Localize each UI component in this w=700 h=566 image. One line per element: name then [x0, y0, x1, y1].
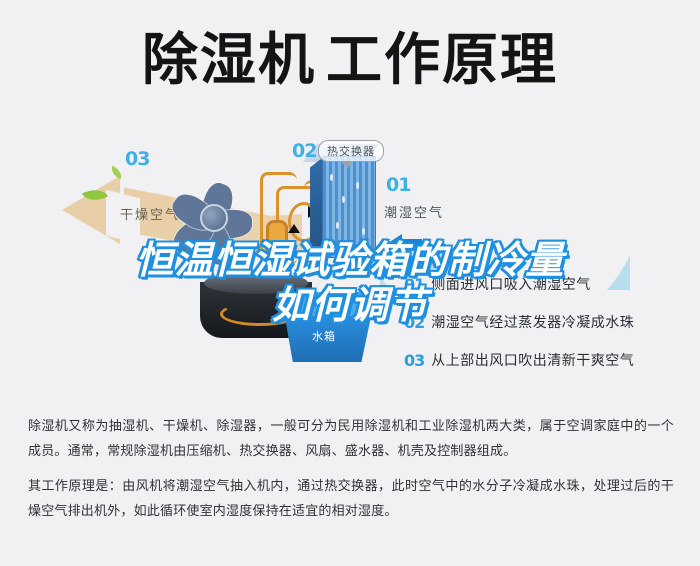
caption-text-02: 潮湿空气经过蒸发器冷凝成水珠	[431, 312, 634, 332]
badge-01: 01	[386, 174, 410, 196]
caption-num-03: 03	[404, 351, 424, 370]
body-paragraph-2: 其工作原理是：由风机将潮湿空气抽入机内，通过热交换器，此时空气中的水分子冷凝成水…	[28, 474, 674, 524]
badge-02: 02	[292, 140, 316, 162]
infographic-page: 除湿机工作原理 干燥空气 03	[0, 0, 700, 566]
caption-text-03: 从上部出风口吹出清新干爽空气	[431, 350, 634, 370]
water-tank-icon	[284, 292, 388, 364]
caption-num-02: 02	[404, 313, 424, 332]
caption-row-03: 03 从上部出风口吹出清新干爽空气	[404, 350, 694, 370]
humid-air-label: 潮湿空气	[384, 202, 444, 221]
caption-text-01: 侧面进风口吸入潮湿空气	[431, 274, 591, 294]
intake-arrow-tail-icon	[400, 239, 422, 247]
fan-icon	[168, 172, 264, 264]
caption-num-01: 01	[404, 275, 424, 294]
heat-exchanger-callout: 热交换器	[318, 140, 384, 162]
article-body: 除湿机又称为抽湿机、干燥机、除湿器，一般可分为民用除湿机和工业除湿机两大类，属于…	[28, 414, 674, 534]
body-paragraph-1: 除湿机又称为抽湿机、干燥机、除湿器，一般可分为民用除湿机和工业除湿机两大类，属于…	[28, 414, 674, 464]
dehumidifier-diagram: 干燥空气 03	[0, 126, 700, 408]
evaporator-icon	[322, 156, 384, 262]
caption-list: 01 侧面进风口吸入潮湿空气 02 潮湿空气经过蒸发器冷凝成水珠 03 从上部出…	[404, 274, 694, 388]
water-tank-label: 水箱	[312, 328, 336, 344]
badge-03: 03	[125, 148, 149, 170]
page-title: 除湿机工作原理	[0, 26, 700, 96]
header: 除湿机工作原理	[0, 0, 700, 128]
page-title-part1: 除湿机	[142, 28, 316, 93]
caption-row-02: 02 潮湿空气经过蒸发器冷凝成水珠	[404, 312, 694, 332]
page-title-part2: 工作原理	[326, 28, 558, 93]
caption-row-01: 01 侧面进风口吸入潮湿空气	[404, 274, 694, 294]
